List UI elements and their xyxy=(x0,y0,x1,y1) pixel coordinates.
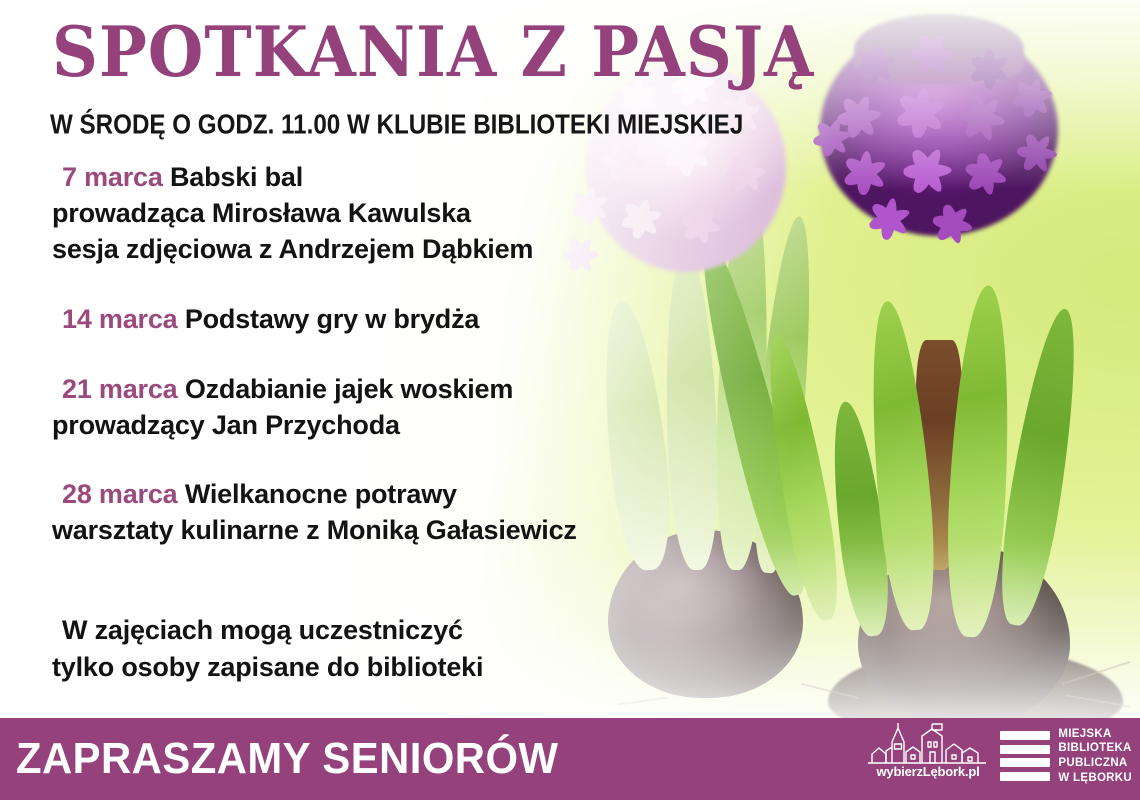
program-entry-headline: 7 marca Babski bal xyxy=(52,160,732,196)
wybierz-lebork-caption: wybierzLębork.pl xyxy=(866,764,990,779)
program-entry-date: 28 marca xyxy=(62,479,178,509)
program-entry-detail: prowadząca Mirosława Kawulska xyxy=(52,196,732,232)
program-entry-title: Wielkanocne potrawy xyxy=(185,479,457,509)
program-entry-headline: 14 marca Podstawy gry w brydża xyxy=(52,302,732,338)
note-line-1: W zajęciach mogą uczestniczyć xyxy=(52,612,732,649)
poster-canvas: SPOTKANIA Z PASJĄ W ŚRODĘ O GODZ. 11.00 … xyxy=(0,0,1140,800)
program-entry: 28 marca Wielkanocne potrawy warsztaty k… xyxy=(52,477,732,549)
program-entry-headline: 28 marca Wielkanocne potrawy xyxy=(52,477,732,513)
mbp-wordmark: MIEJSKA BIBLIOTEKA PUBLICZNA W LĘBORKU xyxy=(1058,727,1132,786)
book-bar xyxy=(1000,731,1050,740)
mbp-line-4: W LĘBORKU xyxy=(1058,771,1132,786)
town-skyline-icon xyxy=(866,722,990,766)
book-bar xyxy=(1000,772,1050,781)
program-entry-date: 21 marca xyxy=(62,374,178,404)
wybierz-lebork-logo[interactable]: wybierzLębork.pl xyxy=(866,722,990,784)
program-entry: 14 marca Podstawy gry w brydża xyxy=(52,302,732,338)
program-entry: 7 marca Babski bal prowadząca Mirosława … xyxy=(52,160,732,268)
program-entry-date: 7 marca xyxy=(62,162,163,192)
book-bar xyxy=(1000,758,1050,767)
page-title: SPOTKANIA Z PASJĄ xyxy=(52,18,814,88)
banner-headline: ZAPRASZAMY SENIORÓW xyxy=(16,734,558,784)
note-line-2: tylko osoby zapisane do biblioteki xyxy=(52,649,732,686)
program-entry-title: Ozdabianie jajek woskiem xyxy=(185,374,513,404)
book-bar xyxy=(1000,745,1050,754)
mbp-logo[interactable]: MIEJSKA BIBLIOTEKA PUBLICZNA W LĘBORKU xyxy=(1000,728,1132,784)
program-entry-date: 14 marca xyxy=(62,304,178,334)
mbp-line-3: PUBLICZNA xyxy=(1058,756,1132,771)
program-entry-detail: prowadzący Jan Przychoda xyxy=(52,408,732,444)
program-entry-headline: 21 marca Ozdabianie jajek woskiem xyxy=(52,372,732,408)
program-list: 7 marca Babski bal prowadząca Mirosława … xyxy=(52,160,732,569)
participation-note: W zajęciach mogą uczestniczyć tylko osob… xyxy=(52,612,732,685)
page-subtitle: W ŚRODĘ O GODZ. 11.00 W KLUBIE BIBLIOTEK… xyxy=(50,108,743,141)
stacked-books-icon xyxy=(1000,731,1050,781)
program-entry-detail: sesja zdjęciowa z Andrzejem Dąbkiem xyxy=(52,232,732,268)
program-entry-detail: warsztaty kulinarne z Moniką Gałasiewicz xyxy=(52,513,732,549)
program-entry: 21 marca Ozdabianie jajek woskiem prowad… xyxy=(52,372,732,444)
mbp-line-2: BIBLIOTEKA xyxy=(1058,741,1132,756)
mbp-line-1: MIEJSKA xyxy=(1058,727,1132,742)
program-entry-title: Babski bal xyxy=(170,162,303,192)
program-entry-title: Podstawy gry w brydża xyxy=(185,304,479,334)
